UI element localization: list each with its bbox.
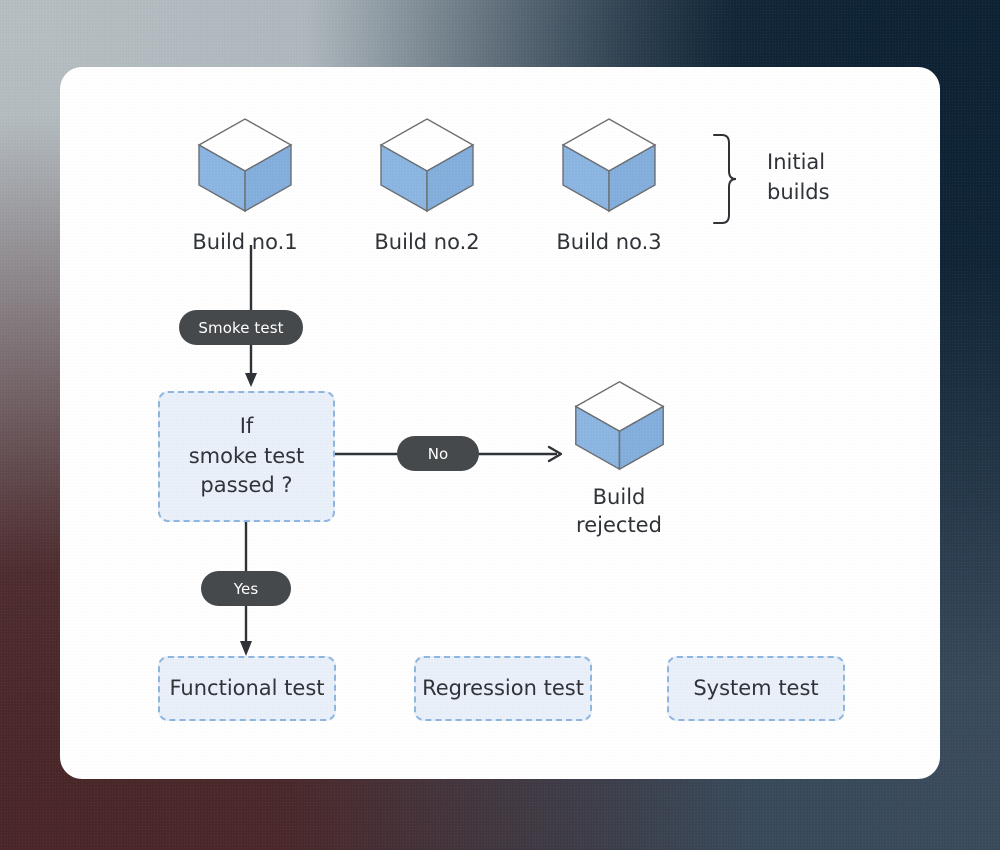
stage-box-functional-test-label: Functional test	[169, 674, 324, 704]
group-label-initial-builds: Initial builds	[767, 148, 940, 208]
badge-no-label: No	[428, 445, 449, 463]
badge-no[interactable]: No	[397, 436, 479, 471]
cube-label-build-2: Build no.2	[347, 229, 507, 257]
badge-smoke-test-label: Smoke test	[198, 319, 283, 337]
cube-icon-build-2[interactable]	[377, 115, 477, 215]
page-background: Build no.1 Build no.2 Build no.3	[0, 0, 1000, 850]
cube-icon-build-1[interactable]	[195, 115, 295, 215]
decision-box-label: If smoke test passed ?	[189, 412, 305, 501]
decision-box-smoke-test[interactable]: If smoke test passed ?	[158, 391, 335, 522]
stage-box-system-test-label: System test	[693, 674, 818, 704]
badge-yes[interactable]: Yes	[201, 571, 291, 606]
diagram-card: Build no.1 Build no.2 Build no.3	[60, 67, 940, 779]
badge-smoke-test[interactable]: Smoke test	[179, 310, 303, 345]
badge-yes-label: Yes	[234, 580, 259, 598]
cube-icon-build-rejected[interactable]	[572, 378, 667, 473]
stage-box-regression-test[interactable]: Regression test	[414, 656, 592, 721]
cube-label-build-3: Build no.3	[529, 229, 689, 257]
cube-label-build-rejected: Build rejected	[539, 484, 699, 539]
cube-icon-build-3[interactable]	[559, 115, 659, 215]
curly-brace-right-icon	[710, 132, 738, 227]
stage-box-functional-test[interactable]: Functional test	[158, 656, 336, 721]
stage-box-regression-test-label: Regression test	[422, 674, 584, 704]
stage-box-system-test[interactable]: System test	[667, 656, 845, 721]
flowchart-canvas: Build no.1 Build no.2 Build no.3	[60, 67, 940, 779]
